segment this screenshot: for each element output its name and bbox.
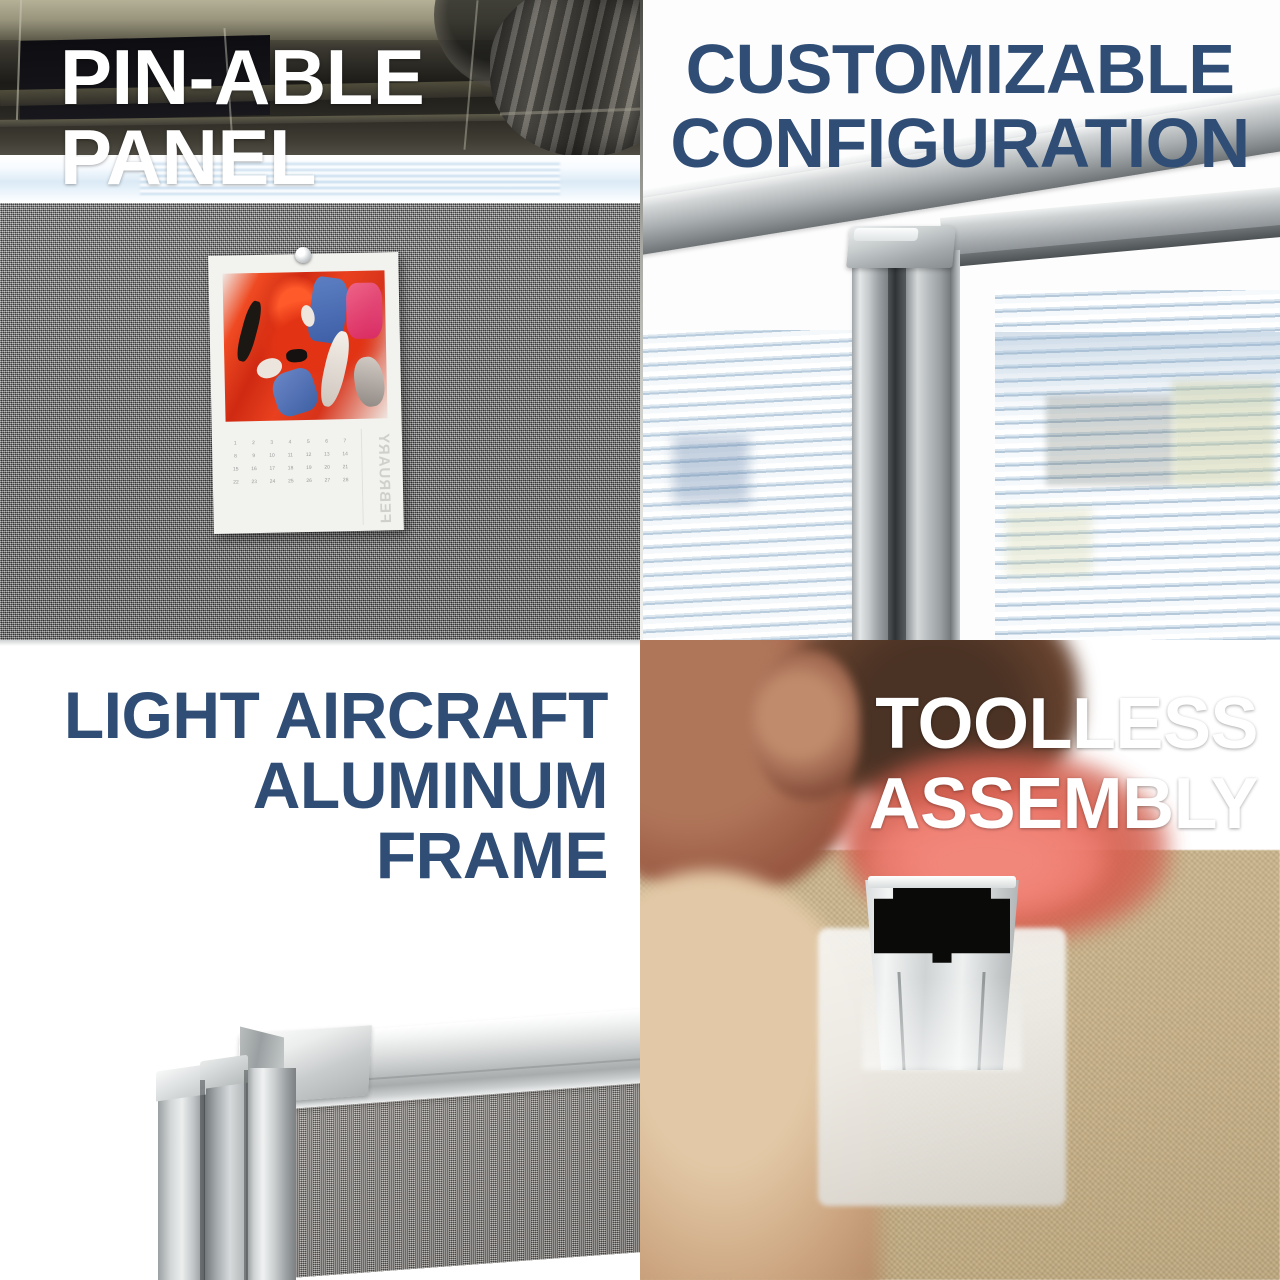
calendar-day-grid: 1234567891011121314151617181920212223242… xyxy=(226,435,356,520)
window-blinds-right xyxy=(995,290,1280,640)
calendar-day: 4 xyxy=(281,436,300,449)
panel-light-aircraft-aluminum-frame: LIGHT AIRCRAFT ALUMINUM FRAME xyxy=(0,640,640,1280)
calendar-month-label: FEBRUARY xyxy=(375,432,394,523)
corner-post-gap-secondary xyxy=(244,1070,248,1280)
calendar-day: 16 xyxy=(245,463,264,476)
calendar-day: 2 xyxy=(244,437,263,450)
panel-toolless-assembly: TOOLLESS ASSEMBLY xyxy=(640,640,1280,1280)
caption-aluminum: ALUMINUM xyxy=(0,752,608,819)
calendar-day: 3 xyxy=(262,437,281,450)
calendar-day: 24 xyxy=(263,476,282,489)
calendar-day: 14 xyxy=(336,448,355,461)
caption-toolless: TOOLLESS xyxy=(640,688,1258,761)
corner-post-main xyxy=(246,1068,296,1280)
aluminum-extrusion-profile xyxy=(862,880,1022,1070)
calendar-day: 21 xyxy=(336,461,355,474)
corner-post-left xyxy=(158,1088,204,1280)
calendar-artwork xyxy=(222,270,387,421)
frame-post-channel xyxy=(888,256,906,640)
frame-post-right xyxy=(906,252,950,640)
calendar-day: 6 xyxy=(317,435,336,448)
feature-grid: 1234567891011121314151617181920212223242… xyxy=(0,0,1280,1280)
frame-post-left xyxy=(852,260,888,640)
corner-post-middle xyxy=(204,1078,246,1280)
calendar-day: 18 xyxy=(281,462,300,475)
panel-pin-able-panel: 1234567891011121314151617181920212223242… xyxy=(0,0,640,640)
calendar-day: 19 xyxy=(300,462,319,475)
corner-post-gap xyxy=(200,1080,205,1280)
caption-configuration: CONFIGURATION xyxy=(640,108,1280,179)
frame-post-edge xyxy=(950,250,960,640)
calendar-day: 13 xyxy=(318,448,337,461)
calendar-fold xyxy=(361,429,364,525)
calendar-day: 1 xyxy=(226,437,245,450)
frame-post-cap-highlight xyxy=(853,228,918,241)
calendar-day: 8 xyxy=(226,450,245,463)
caption-assembly: ASSEMBLY xyxy=(640,768,1258,841)
calendar-day: 17 xyxy=(263,463,282,476)
calendar-day: 11 xyxy=(281,449,300,462)
pinned-calendar: 1234567891011121314151617181920212223242… xyxy=(208,252,404,534)
calendar-day: 12 xyxy=(299,449,318,462)
calendar-day: 26 xyxy=(300,475,319,488)
panel-top-divider xyxy=(0,640,640,646)
extrusion-lip xyxy=(868,876,1016,888)
calendar-day: 10 xyxy=(263,450,282,463)
push-pin-icon xyxy=(295,247,311,263)
caption-customizable: CUSTOMIZABLE xyxy=(640,34,1280,105)
calendar-day: 25 xyxy=(282,475,301,488)
caption-light-aircraft: LIGHT AIRCRAFT xyxy=(0,682,608,749)
calendar-day: 9 xyxy=(244,450,263,463)
calendar-day: 22 xyxy=(227,476,246,489)
calendar-day: 5 xyxy=(299,436,318,449)
panel-customizable-configuration: CUSTOMIZABLE CONFIGURATION xyxy=(640,0,1280,640)
calendar-day: 27 xyxy=(318,474,337,487)
calendar-day: 20 xyxy=(318,461,337,474)
calendar-day: 28 xyxy=(336,474,355,487)
calendar-day: 15 xyxy=(226,463,245,476)
caption-pin-able-panel: PIN-ABLE PANEL xyxy=(60,38,640,197)
calendar-day: 7 xyxy=(336,435,355,448)
caption-frame: FRAME xyxy=(0,822,608,889)
calendar-day: 23 xyxy=(245,476,264,489)
